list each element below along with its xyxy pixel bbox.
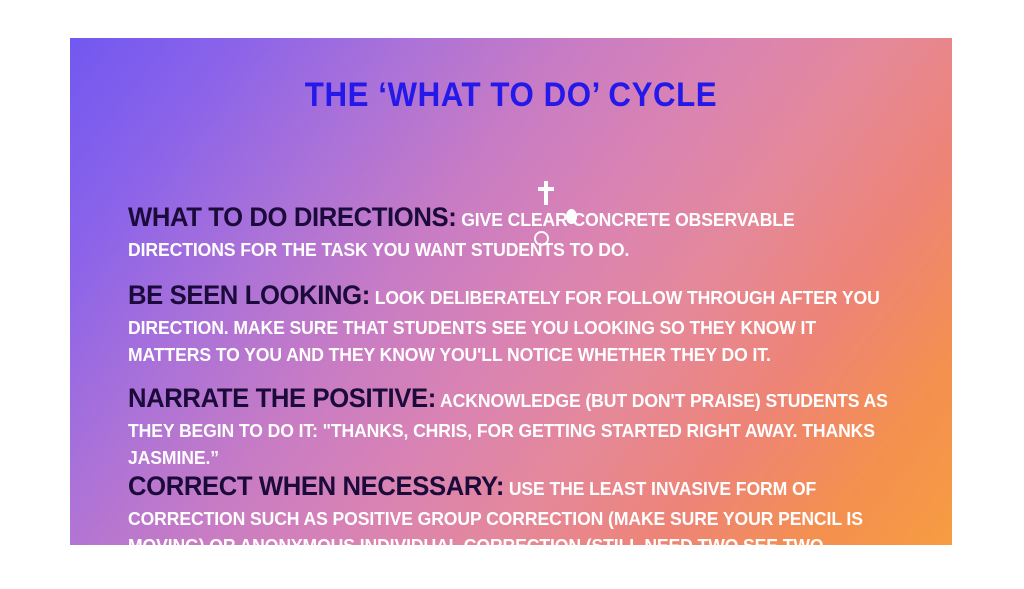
cycle-block-lead: CORRECT WHEN NECESSARY: bbox=[128, 471, 504, 501]
gradient-background-panel: THE ‘WHAT TO DO’ CYCLE WHAT TO DO DIRECT… bbox=[70, 38, 952, 545]
cycle-block-narrate-the-positive: NARRATE THE POSITIVE: ACKNOWLEDGE (BUT D… bbox=[128, 379, 899, 471]
cycle-block-what-to-do-directions: WHAT TO DO DIRECTIONS: GIVE CLEAR CONCRE… bbox=[128, 198, 899, 264]
cycle-block-be-seen-looking: BE SEEN LOOKING: LOOK DELIBERATELY FOR F… bbox=[128, 276, 899, 368]
cycle-block-lead: BE SEEN LOOKING: bbox=[128, 280, 370, 310]
slide-root: THE ‘WHAT TO DO’ CYCLE WHAT TO DO DIRECT… bbox=[0, 0, 1024, 589]
cycle-block-correct-when-necessary: CORRECT WHEN NECESSARY: USE THE LEAST IN… bbox=[128, 467, 899, 545]
page-title: THE ‘WHAT TO DO’ CYCLE bbox=[105, 76, 916, 115]
cycle-block-lead: WHAT TO DO DIRECTIONS: bbox=[128, 202, 456, 232]
cycle-block-lead: NARRATE THE POSITIVE: bbox=[128, 383, 436, 413]
